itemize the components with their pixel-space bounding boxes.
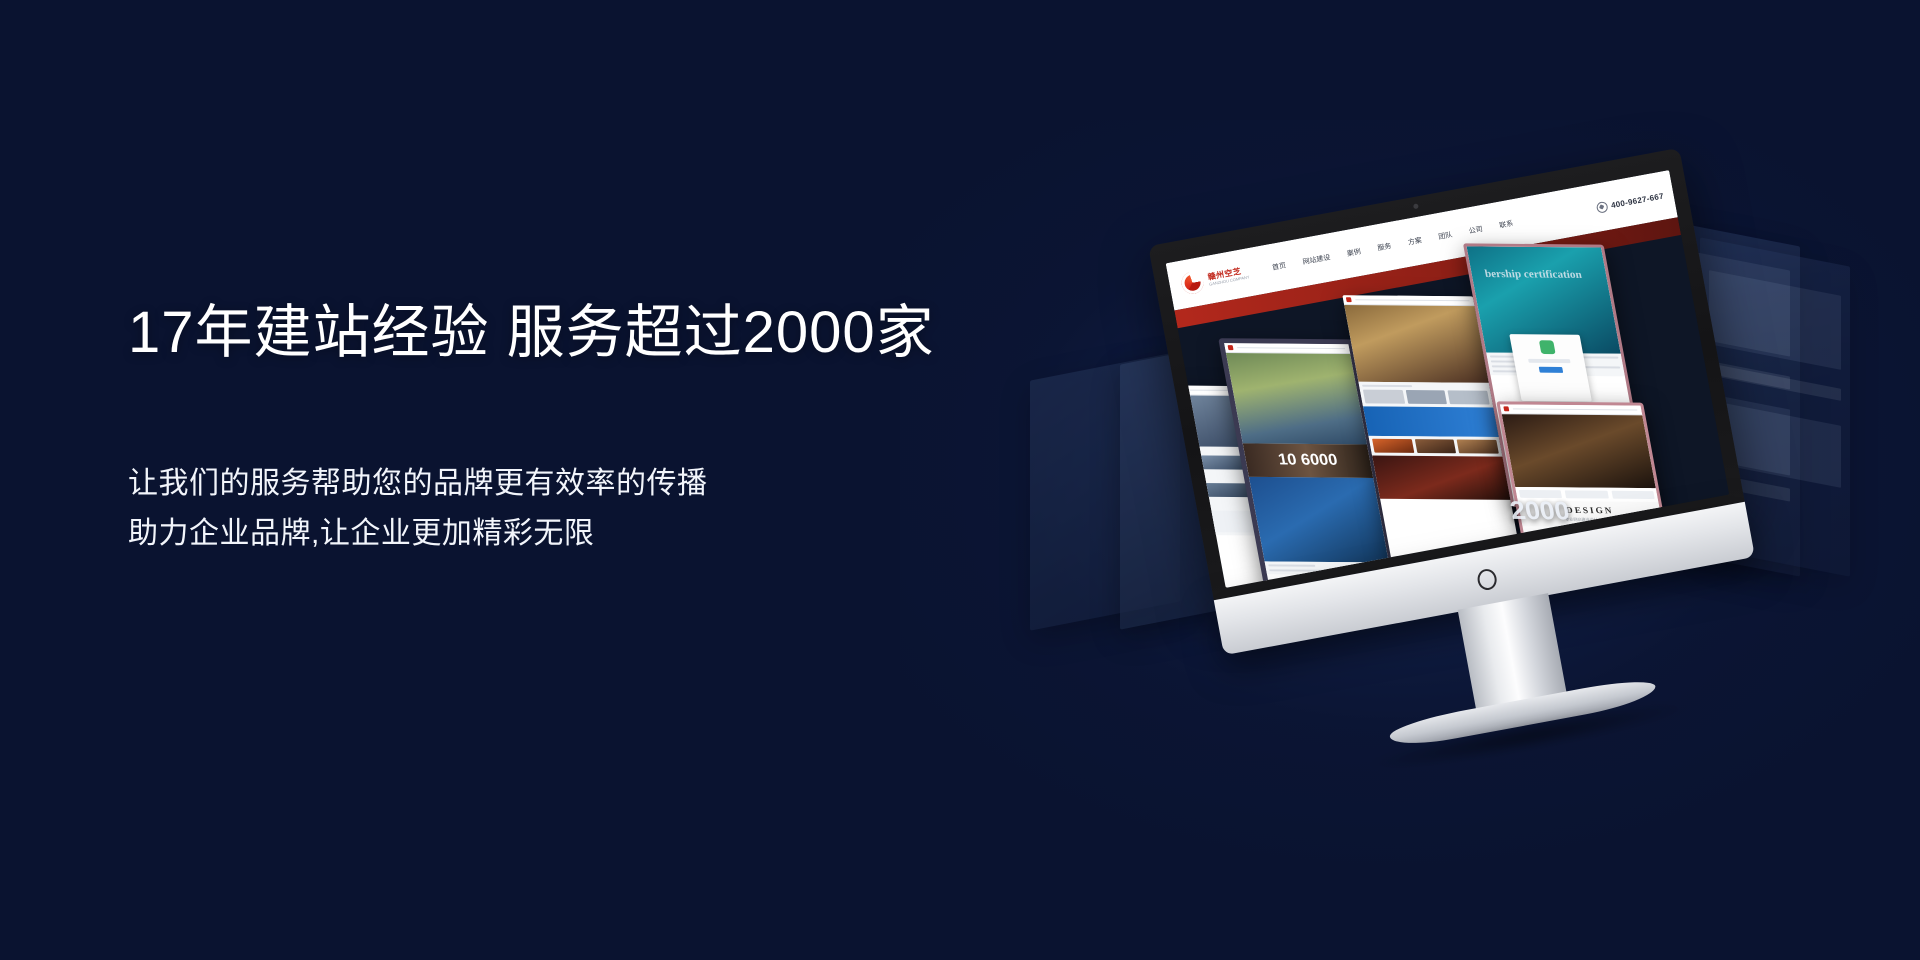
site-phone: 400-9627-667	[1595, 190, 1664, 213]
nav-item-7[interactable]: 联系	[1499, 218, 1515, 230]
hero-subtitle: 让我们的服务帮助您的品牌更有效率的传播 助力企业品牌,让企业更加精彩无限	[128, 459, 1088, 559]
apple-logo-icon	[1476, 567, 1499, 591]
hero-copy: 17年建站经验 服务超过2000家 让我们的服务帮助您的品牌更有效率的传播 助力…	[128, 300, 1088, 559]
phone-number: 400-9627-667	[1610, 191, 1664, 210]
subtitle-line-1: 让我们的服务帮助您的品牌更有效率的传播	[128, 459, 1088, 509]
imac-body: 赣州空芝 GANZHOU COMPANY 首页 网站建设 案例 服务 方案 团队…	[1146, 134, 1813, 865]
webcam-dot	[1412, 203, 1418, 209]
hero-banner: 17年建站经验 服务超过2000家 让我们的服务帮助您的品牌更有效率的传播 助力…	[0, 0, 1920, 960]
thumbnail-stadium-numbers: 10 6000	[1243, 443, 1373, 478]
membership-login-card	[1510, 334, 1592, 402]
nav-item-2[interactable]: 案例	[1346, 247, 1362, 259]
design-title: DESIGN	[1565, 505, 1614, 515]
nav-item-1[interactable]: 网站建设	[1302, 252, 1331, 267]
nav-item-6[interactable]: 公司	[1468, 224, 1484, 236]
shield-icon	[1539, 340, 1556, 354]
monitor-illustration: 赣州空芝 GANZHOU COMPANY 首页 网站建设 案例 服务 方案 团队…	[1200, 180, 1920, 820]
nav-item-5[interactable]: 团队	[1438, 230, 1454, 242]
nav-item-0[interactable]: 首页	[1271, 261, 1287, 273]
design-subtitle: 专业网站建设设计 · 设计力量	[1565, 517, 1619, 523]
subtitle-line-2: 助力企业品牌,让企业更加精彩无限	[128, 509, 1088, 559]
phone-icon	[1595, 201, 1608, 214]
nav-item-4[interactable]: 方案	[1407, 235, 1423, 247]
page-title: 17年建站经验 服务超过2000家	[128, 300, 1088, 367]
nav-item-3[interactable]: 服务	[1377, 241, 1393, 253]
company-logo-icon	[1180, 270, 1206, 296]
company-logo-text: 赣州空芝 GANZHOU COMPANY	[1207, 265, 1250, 287]
